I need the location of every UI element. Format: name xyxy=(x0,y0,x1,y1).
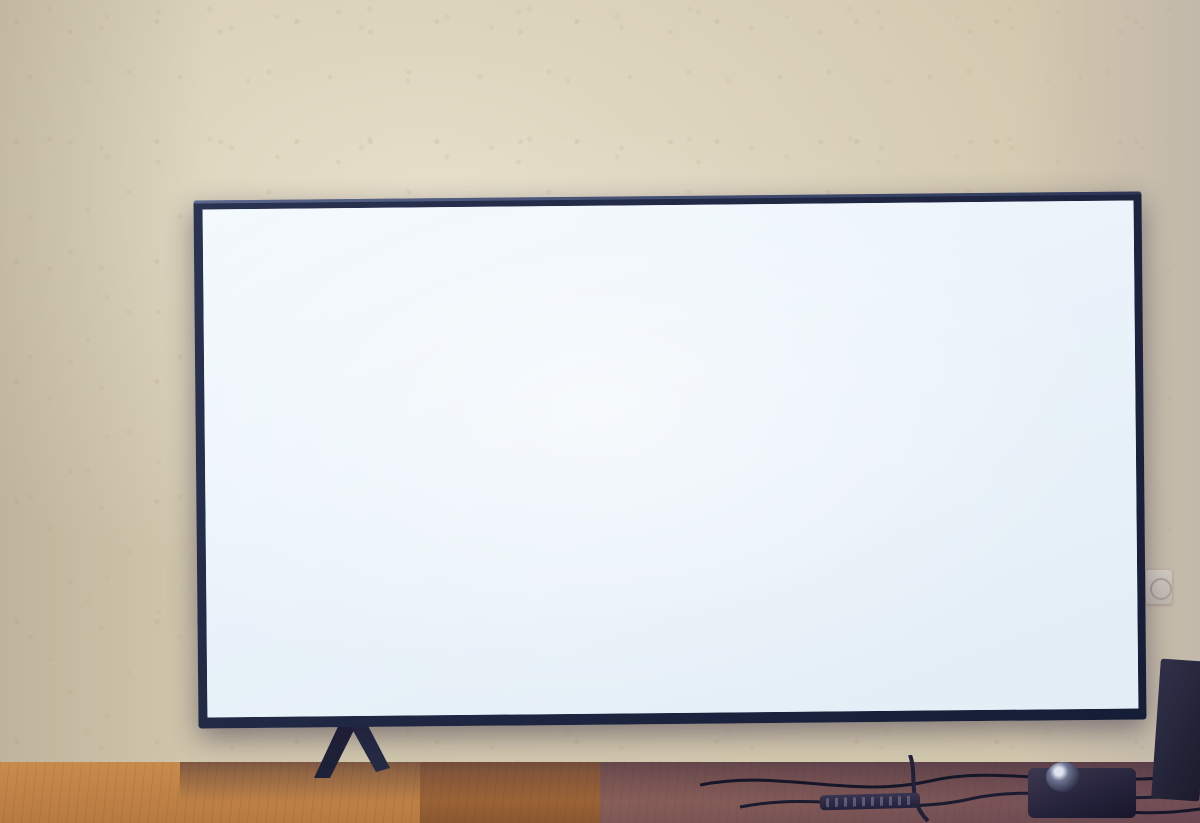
tv-screen: Степень статистического охвата транспорт… xyxy=(203,201,1139,718)
room-scene: Степень статистического охвата транспорт… xyxy=(0,0,1200,823)
outlet-socket-icon xyxy=(1150,578,1172,600)
presentation-slide: Степень статистического охвата транспорт… xyxy=(203,201,1139,718)
column-header-state-line-2: (ведомственные) xyxy=(370,387,520,407)
monitor-back xyxy=(1151,658,1200,801)
decorative-arrow-icon xyxy=(217,283,339,332)
list-item: • Отчетность (по всем видам транспорта) xyxy=(373,433,585,473)
column-header-unlicensed-line-2: (без лицензии) xyxy=(925,382,1056,402)
slide-title-line-2: транспортных перевозок xyxy=(403,296,1003,344)
bullet-text: Досчет на основании косвенных данных xyxy=(900,428,1097,468)
bullet-text: Отчетность (по всем видам транспорта) xyxy=(388,433,585,473)
list-item: • Досчет на основании выборочных обследо… xyxy=(629,430,842,489)
bullet-text-problem: Проблема: количество автомобильных перев… xyxy=(900,484,1098,581)
remote-control[interactable] xyxy=(820,793,920,811)
column-header-unlicensed-line-1: Частные xyxy=(953,361,1027,381)
column-private-licensed: Частные (с лицензией) • Досчет на основа… xyxy=(618,355,853,645)
device-knob[interactable] xyxy=(1046,762,1080,792)
column-header-unlicensed: Частные (без лицензии) xyxy=(874,353,1107,410)
column-body-licensed: • Досчет на основании выборочных обследо… xyxy=(619,410,853,645)
bullet-dot-icon: • xyxy=(885,486,895,581)
bullet-text: Досчет на основании выборочных обследова… xyxy=(644,430,842,489)
bullet-dot-icon: • xyxy=(885,430,894,468)
slide-title-line-1: Степень статистического охвата xyxy=(403,254,1003,302)
slide-footer-note-text: Перевозка членов семьи собственным транс… xyxy=(417,662,931,683)
columns-container: Государственные (ведомственные) • Отчетн… xyxy=(362,353,1117,648)
bullet-dot-icon: • xyxy=(373,435,382,473)
remote-buttons xyxy=(826,796,914,807)
television: Степень статистического охвата транспорт… xyxy=(193,191,1146,728)
list-item: • Проблема: количество автомобильных пер… xyxy=(885,484,1098,581)
wall-left-shadow xyxy=(0,0,210,770)
column-header-state: Государственные (ведомственные) xyxy=(362,358,595,415)
column-header-licensed-line-2: (с лицензией) xyxy=(674,384,795,404)
column-state-carriers: Государственные (ведомственные) • Отчетн… xyxy=(362,358,597,648)
column-header-licensed-line-1: Частные xyxy=(697,364,771,384)
column-body-unlicensed: • Досчет на основании косвенных данных •… xyxy=(875,408,1109,643)
column-header-state-line-1: Государственные xyxy=(370,366,524,386)
bullet-dot-icon: • xyxy=(629,432,638,489)
column-body-state: • Отчетность (по всем видам транспорта) xyxy=(363,413,597,648)
slide-footer-note: Перевозка членов семьи собственным транс… xyxy=(407,653,1057,689)
column-private-unlicensed: Частные (без лицензии) • Досчет на основ… xyxy=(874,353,1109,643)
list-item: • Досчет на основании косвенных данных xyxy=(885,428,1097,468)
audio-device xyxy=(1028,768,1136,818)
power-outlet[interactable] xyxy=(1146,570,1172,604)
column-header-licensed: Частные (с лицензией) xyxy=(618,355,851,412)
slide-title: Степень статистического охвата транспорт… xyxy=(403,254,1004,344)
